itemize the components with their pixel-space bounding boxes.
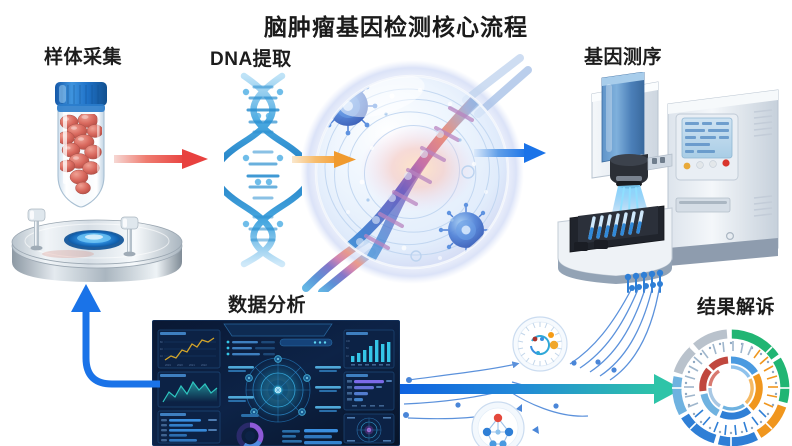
test-tube-icon [38,76,124,212]
panel-hbar-chart-blue [158,411,220,443]
svg-text:2021: 2021 [189,363,195,367]
stage-label-sample-collection: 样体采集 [44,42,122,69]
flow-network [398,278,698,446]
svg-text:2020: 2020 [177,363,183,367]
svg-text:⌁: ⌁ [640,152,643,158]
dna-sphere [300,52,532,292]
page-title: 脑肿瘤基因检测核心流程 [0,8,792,42]
circos-plot-icon [672,326,790,446]
panel-area-chart-teal [158,372,220,407]
arrow-blue [474,140,548,166]
panel-radar-small [344,414,394,443]
arrow-gradient [400,374,682,404]
node-cluster-molecule [472,402,524,446]
diagram-canvas: 脑肿瘤基因检测核心流程 样体采集 DNA提取 基因测序 数据分析 结果解诉 [0,0,792,446]
panel-bar-chart-cyan: 1005010 [344,330,394,368]
stage-label-result-interpretation: 结果解诉 [697,292,775,319]
stage-label-data-analysis: 数据分析 [228,290,306,317]
stage-label-dna-extraction: DNA提取 [210,44,292,71]
node-cluster-radial-dial [513,317,567,371]
panel-radial-hub [244,356,312,424]
svg-text:100: 100 [346,340,351,343]
arrow-up-curved [68,282,164,390]
arrow-red [114,146,210,172]
arrow-orange [292,148,358,172]
sequencer-machine-icon: ⌁ [540,72,788,294]
dna-helix-icon [224,72,302,268]
svg-text:2022: 2022 [201,363,207,367]
stage-label-gene-sequencing: 基因测序 [584,42,662,69]
metal-platform-stage [6,198,188,290]
analytics-dashboard-icon: 201920202021 2022 804010 [152,320,400,446]
panel-hbar-chart-purple [344,372,394,410]
panel-line-chart-gold: 201920202021 2022 804010 [158,330,220,368]
svg-text:2019: 2019 [165,363,171,367]
